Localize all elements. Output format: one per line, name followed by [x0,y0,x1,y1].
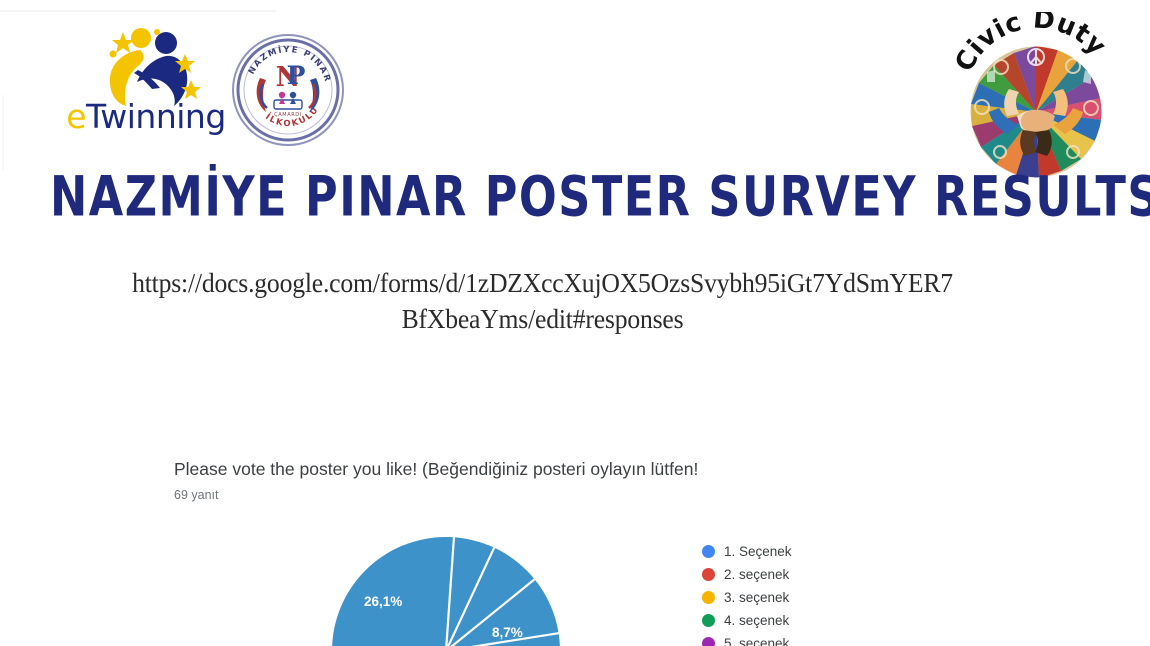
etwinning-wordmark-rest: Twinning [86,97,226,136]
etwinning-mark-icon [82,26,202,108]
etwinning-logo: eTwinning [62,26,230,150]
pie-slice-separators [332,537,560,646]
pie-slice-label-1: 26,1% [364,594,402,609]
form-results-block: Please vote the poster you like! (Beğend… [174,458,698,502]
presentation-slide: eTwinning NAZMİYE PINAR İLKOKULU N P ÇAM… [0,0,1150,646]
form-url-line-2: BfXbeaYms/edit#responses [46,302,1039,338]
etwinning-wordmark-e: e [66,97,86,136]
page-title: NAZMİYE PINAR POSTER SURVEY RESULTS [50,168,941,226]
civic-duty-logo: Civic Duty [945,12,1127,188]
legend-item-label: 1. Seçenek [724,544,792,559]
etwinning-wordmark: eTwinning [62,100,230,133]
form-url-text: https://docs.google.com/forms/d/1zDZXccX… [46,266,1039,337]
legend-item: 4. seçenek [702,609,902,632]
svg-text:P: P [287,61,306,90]
legend-color-swatch-icon [702,568,715,581]
legend-item-label: 4. seçenek [724,613,789,628]
legend-item: 3. seçenek [702,586,902,609]
scan-artifact-top-line [0,10,276,12]
svg-text:ÇAMARDI: ÇAMARDI [274,112,302,118]
legend-color-swatch-icon [702,614,715,627]
scan-artifact-left-line [2,95,4,170]
survey-pie-chart: 26,1% 8,7% [332,537,560,646]
school-emblem-logo: NAZMİYE PINAR İLKOKULU N P ÇAMARDI [230,32,346,148]
pie-slice-label-2: 8,7% [492,625,523,640]
legend-item-label: 3. seçenek [724,590,789,605]
legend-item: 1. Seçenek [702,540,902,563]
legend-item: 2. seçenek [702,563,902,586]
survey-response-count: 69 yanıt [174,488,698,502]
legend-item-label: 5. seçenek [724,636,789,646]
legend-item: 5. seçenek [702,632,902,646]
legend-color-swatch-icon [702,591,715,604]
survey-question: Please vote the poster you like! (Beğend… [174,458,698,481]
legend-item-label: 2. seçenek [724,567,789,582]
legend-color-swatch-icon [702,545,715,558]
pie-chart-legend: 1. Seçenek2. seçenek3. seçenek4. seçenek… [702,540,902,646]
form-url-line-1: https://docs.google.com/forms/d/1zDZXccX… [46,266,1039,302]
legend-color-swatch-icon [702,637,715,646]
